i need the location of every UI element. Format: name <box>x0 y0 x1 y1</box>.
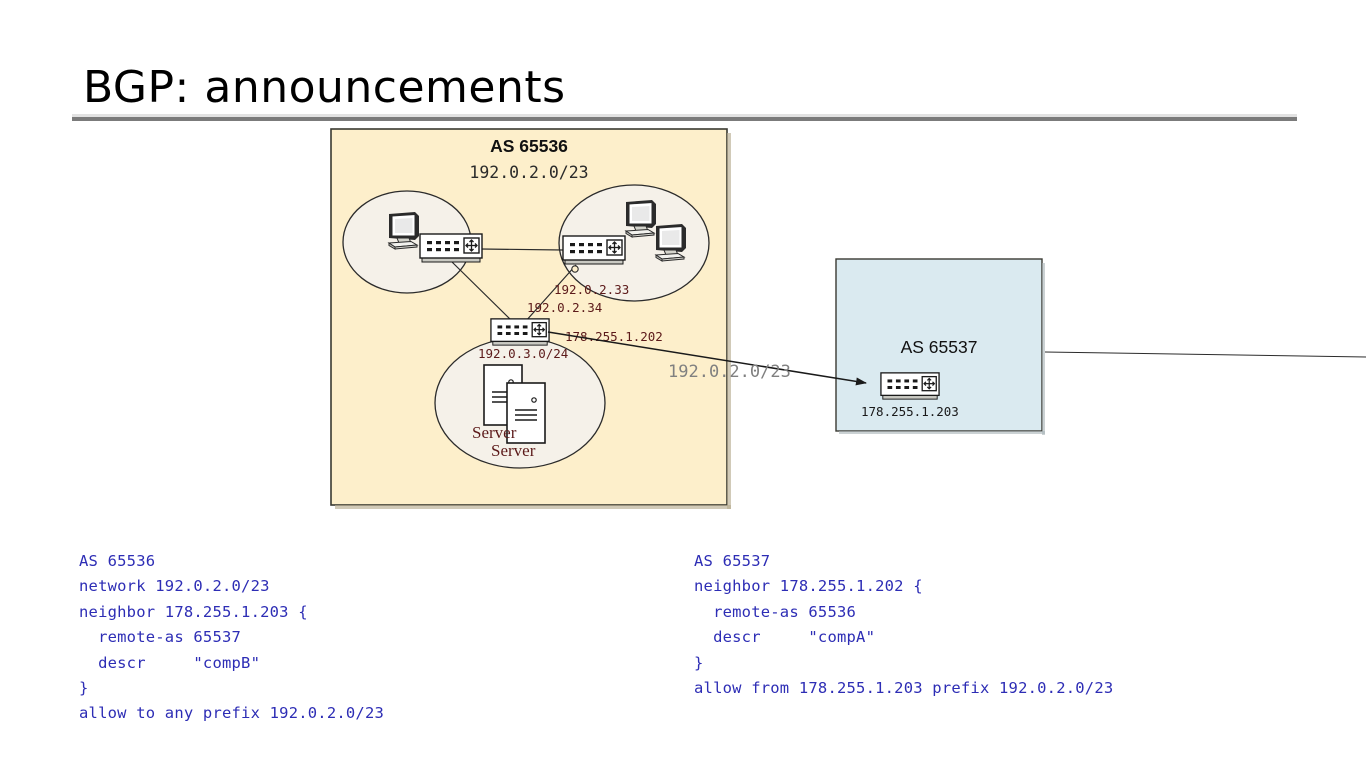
desktop-computer-icon <box>389 212 419 249</box>
label-server-2: Server <box>491 441 536 460</box>
bgp-config-as65536: AS 65536 network 192.0.2.0/23 neighbor 1… <box>79 549 384 727</box>
label-server-1: Server <box>472 423 517 442</box>
as-65536-prefix: 192.0.2.0/23 <box>469 163 588 182</box>
desktop-computer-icon <box>626 200 656 237</box>
network-switch-icon <box>491 319 549 345</box>
network-switch-icon <box>420 234 482 262</box>
as-65536-title: AS 65536 <box>490 136 568 156</box>
link-joint <box>572 266 578 272</box>
network-switch-icon <box>563 236 625 264</box>
network-switch-icon <box>881 373 939 399</box>
as-65537-title: AS 65537 <box>901 337 978 357</box>
bgp-config-as65537: AS 65537 neighbor 178.255.1.202 { remote… <box>694 549 1113 701</box>
label-ip-178-255-1-203: 178.255.1.203 <box>861 404 959 419</box>
label-subnet-192-0-3-0-24: 192.0.3.0/24 <box>478 346 568 361</box>
label-ip-192-0-2-34: 192.0.2.34 <box>527 300 602 315</box>
network-diagram: AS 65536 192.0.2.0/23 192.0.2.33 192.0.2… <box>0 0 1366 540</box>
announcement-prefix-label: 192.0.2.0/23 <box>668 362 791 382</box>
desktop-computer-icon <box>656 224 686 261</box>
label-ip-192-0-2-33: 192.0.2.33 <box>554 282 629 297</box>
offscreen-link-line <box>1045 352 1366 357</box>
